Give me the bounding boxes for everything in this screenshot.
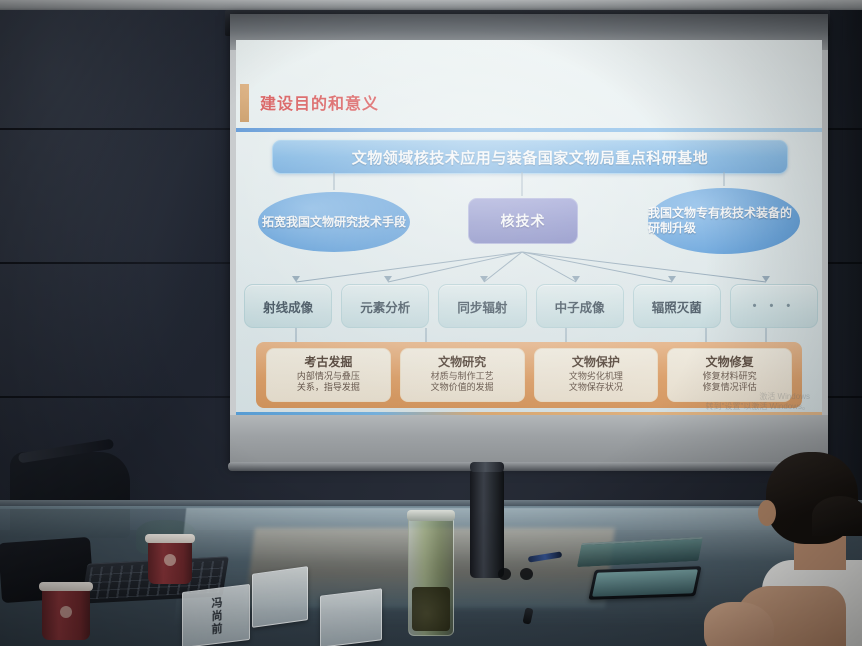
application-card: 文物研究 材质与制作工艺文物价值的发掘 <box>400 348 525 402</box>
name-placard-text: 冯尚前 <box>208 596 224 637</box>
projection-screen: 建设目的和意义 文物领域核技术应用与装备国家文物局重点科研基地 <box>230 14 828 466</box>
projected-slide: 建设目的和意义 文物领域核技术应用与装备国家文物局重点科研基地 <box>236 40 822 415</box>
screen-bottom-bar <box>228 462 830 471</box>
title-divider-rule <box>236 128 822 132</box>
screen-blank-area <box>230 415 828 466</box>
coffee-cup <box>148 540 192 584</box>
technique-tag: 辐照灭菌 <box>633 284 721 328</box>
technique-tag-row: 射线成像 元素分析 同步辐射 中子成像 辐照灭菌 • • • <box>244 284 818 328</box>
goal-right-ellipse: 我国文物专有核技术装备的研制升级 <box>648 188 800 254</box>
slide-banner-title: 文物领域核技术应用与装备国家文物局重点科研基地 <box>272 140 788 174</box>
application-desc: 文物劣化机理文物保存状况 <box>569 371 623 394</box>
technique-tag: 中子成像 <box>536 284 624 328</box>
name-placard: 冯尚前 <box>182 584 250 646</box>
diagram-level-2: 拓宽我国文物研究技术手段 核技术 我国文物专有核技术装备的研制升级 <box>236 188 822 252</box>
application-title: 考古发掘 <box>304 356 352 370</box>
slide-section-title: 建设目的和意义 <box>260 90 379 114</box>
application-desc: 修复材料研究修复情况评估 <box>703 371 757 394</box>
application-desc: 内部情况与叠压关系，指导发掘 <box>297 371 360 394</box>
technique-tag: 元素分析 <box>341 284 429 328</box>
name-placard <box>252 566 308 628</box>
conference-room-photo: 建设目的和意义 文物领域核技术应用与装备国家文物局重点科研基地 <box>0 0 862 646</box>
seated-person <box>742 452 862 646</box>
application-desc: 材质与制作工艺文物价值的发掘 <box>431 371 494 394</box>
application-card: 考古发掘 内部情况与叠压关系，指导发掘 <box>266 348 391 402</box>
application-title: 文物修复 <box>706 356 754 370</box>
tablet <box>588 566 701 600</box>
coffee-cup <box>42 588 90 640</box>
windows-activation-watermark: 激活 Windows转到"设置"以激活 Windows。 <box>640 392 810 413</box>
thermos-flask <box>470 468 504 578</box>
name-placard <box>320 588 382 646</box>
second-person-head <box>812 496 862 536</box>
application-title: 文物保护 <box>572 356 620 370</box>
technique-tag: 射线成像 <box>244 284 332 328</box>
technique-tag: 同步辐射 <box>438 284 526 328</box>
person-ear <box>758 500 776 526</box>
goal-left-ellipse: 拓宽我国文物研究技术手段 <box>258 192 410 252</box>
technique-tag-ellipsis: • • • <box>730 284 818 328</box>
title-accent-bar <box>240 84 249 122</box>
application-title: 文物研究 <box>438 356 486 370</box>
core-technology-box: 核技术 <box>468 198 578 244</box>
glass-tea-bottle <box>408 516 454 636</box>
eyeglasses <box>498 568 536 580</box>
